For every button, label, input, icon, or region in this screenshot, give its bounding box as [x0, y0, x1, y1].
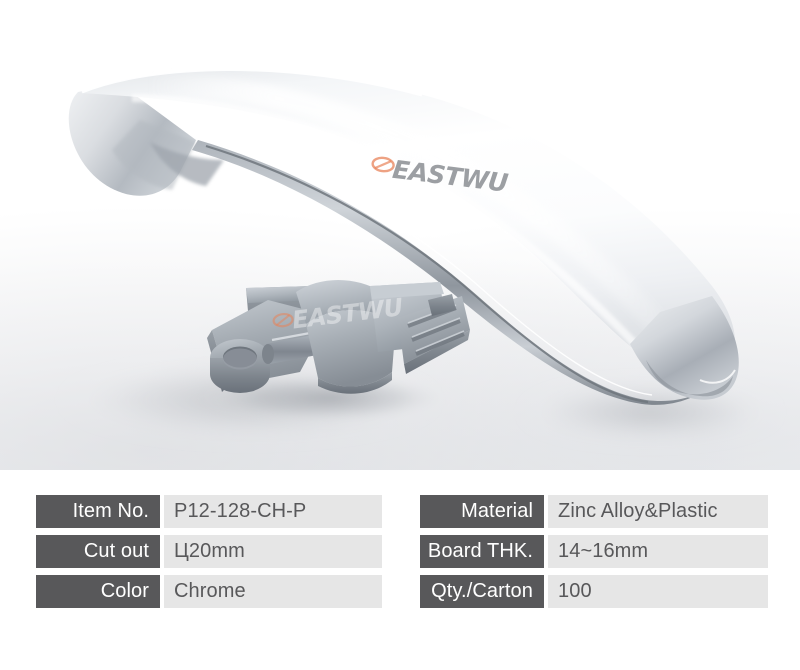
bracket-rod-cap: [262, 344, 274, 364]
spec-label-color: Color: [36, 575, 160, 608]
table-row: Material Zinc Alloy&Plastic: [420, 495, 768, 528]
product-illustration: [0, 0, 800, 470]
spec-value-material: Zinc Alloy&Plastic: [548, 495, 768, 528]
spec-label-material: Material: [420, 495, 544, 528]
spec-label-item-no: Item No.: [36, 495, 160, 528]
handle-shadow-right: [520, 382, 780, 442]
spec-label-board-thk: Board THK.: [420, 535, 544, 568]
product-photo: EASTWU EASTWU: [0, 0, 800, 470]
spec-label-qty-carton: Qty./Carton: [420, 575, 544, 608]
spec-value-qty-carton: 100: [548, 575, 768, 608]
table-row: Board THK. 14~16mm: [420, 535, 768, 568]
table-row: Item No. P12-128-CH-P: [36, 495, 384, 528]
product-spec-sheet: EASTWU EASTWU Item No. P12-128-CH-P Cut …: [0, 0, 800, 670]
spec-value-color: Chrome: [164, 575, 382, 608]
table-row: Cut out Ц20mm: [36, 535, 384, 568]
table-row: Qty./Carton 100: [420, 575, 768, 608]
table-row: Color Chrome: [36, 575, 384, 608]
spec-column-left: Item No. P12-128-CH-P Cut out Ц20mm Colo…: [36, 495, 384, 615]
spec-value-board-thk: 14~16mm: [548, 535, 768, 568]
plastic-mounting-bracket: [207, 280, 470, 394]
spec-column-right: Material Zinc Alloy&Plastic Board THK. 1…: [420, 495, 768, 615]
spec-value-cut-out: Ц20mm: [164, 535, 382, 568]
bracket-screw-hole-inner: [223, 349, 257, 370]
spec-label-cut-out: Cut out: [36, 535, 160, 568]
spec-value-item-no: P12-128-CH-P: [164, 495, 382, 528]
